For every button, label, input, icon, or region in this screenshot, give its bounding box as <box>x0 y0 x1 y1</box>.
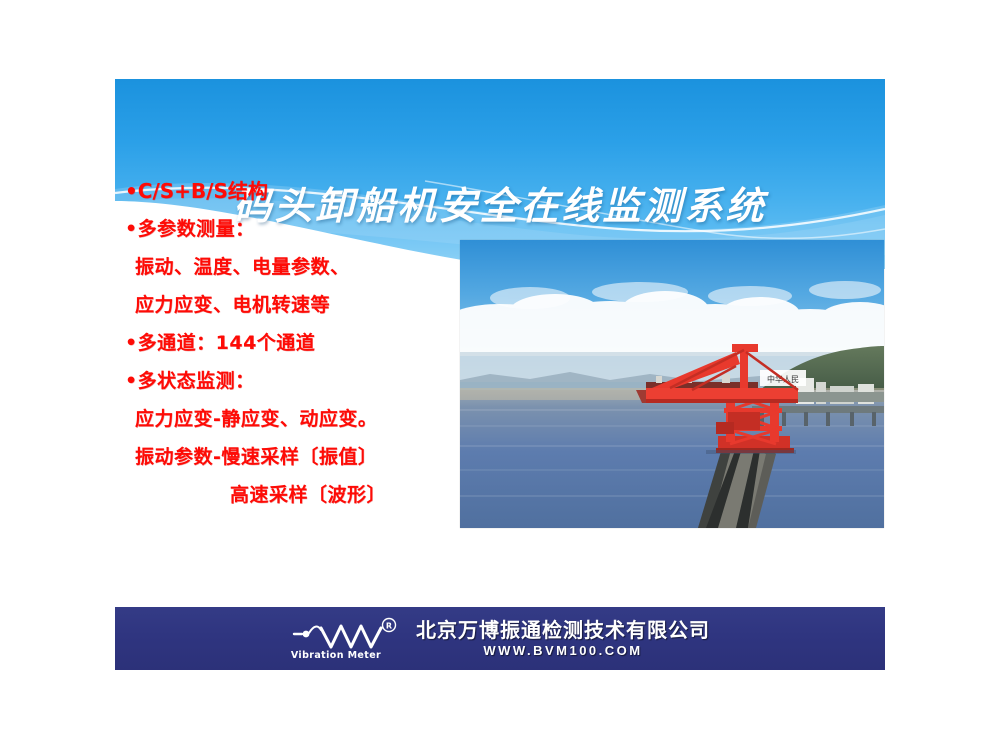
slide-canvas: 码头卸船机安全在线监测系统 •C/S+B/S结构 •多参数测量： 振动、温度、电… <box>0 0 1000 750</box>
company-name: 北京万博振通检测技术有限公司 <box>416 620 710 640</box>
bullet-list: •C/S+B/S结构 •多参数测量： 振动、温度、电量参数、 应力应变、电机转速… <box>125 172 485 514</box>
bullet-vibration-line-2: 高速采样〔波形〕 <box>125 476 485 514</box>
vibration-meter-logo: R Vibration Meter <box>290 616 406 662</box>
bullet-parameters-line-1: 振动、温度、电量参数、 <box>125 248 485 286</box>
bullet-strain-line: 应力应变-静应变、动应变。 <box>125 400 485 438</box>
svg-text:R: R <box>386 621 392 630</box>
bullet-multi-parameter: •多参数测量： <box>125 210 485 248</box>
dock-ship-unloader-photo: 中华人民 <box>460 240 884 528</box>
bullet-architecture: •C/S+B/S结构 <box>125 172 485 210</box>
bullet-vibration-line-1: 振动参数-慢速采样〔振值〕 <box>125 438 485 476</box>
footer-bar: R Vibration Meter 北京万博振通检测技术有限公司 WWW.BVM… <box>115 607 885 670</box>
bullet-multi-channel: •多通道：144个通道 <box>125 324 485 362</box>
bullet-multi-state: •多状态监测： <box>125 362 485 400</box>
svg-text:Vibration Meter: Vibration Meter <box>291 650 381 661</box>
company-url: WWW.BVM100.COM <box>416 644 710 657</box>
bullet-parameters-line-2: 应力应变、电机转速等 <box>125 286 485 324</box>
footer-company-block: 北京万博振通检测技术有限公司 WWW.BVM100.COM <box>416 620 710 657</box>
slide-body: 码头卸船机安全在线监测系统 •C/S+B/S结构 •多参数测量： 振动、温度、电… <box>115 79 885 593</box>
